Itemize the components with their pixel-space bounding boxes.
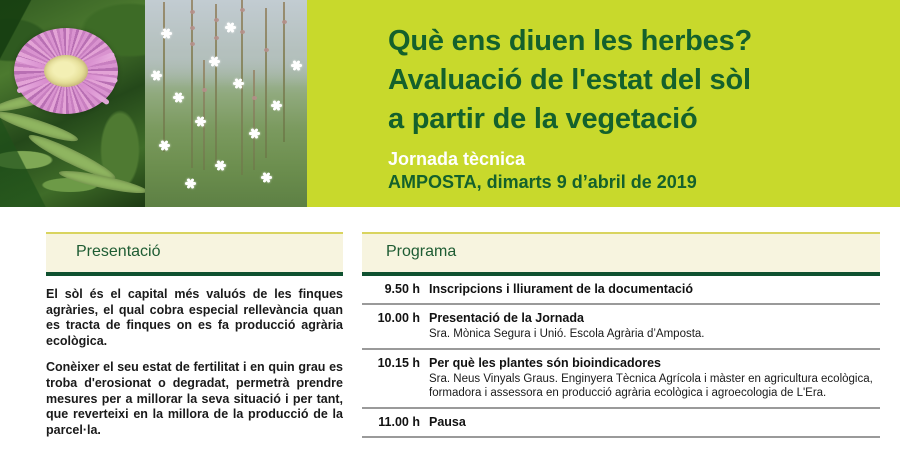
flower-bud xyxy=(190,26,195,30)
program-row: 10.15 h Per què les plantes són bioindic… xyxy=(362,350,880,409)
program-title: Per què les plantes són bioindicadores xyxy=(429,355,880,371)
stem xyxy=(203,60,205,170)
stem xyxy=(215,4,217,164)
event-subtitle: Jornada tècnica xyxy=(388,148,888,171)
presentation-column: Presentació El sòl és el capital més val… xyxy=(46,232,343,449)
white-flower xyxy=(291,60,302,71)
title-line-1: Què ens diuen les herbes? xyxy=(388,22,888,61)
title-block: Què ens diuen les herbes? Avaluació de l… xyxy=(388,22,888,194)
flower-bud xyxy=(202,88,207,92)
header-banner: Què ens diuen les herbes? Avaluació de l… xyxy=(0,0,900,207)
white-flower xyxy=(161,28,172,39)
programa-heading: Programa xyxy=(362,234,880,263)
white-flower xyxy=(233,78,244,89)
stem xyxy=(265,8,267,158)
flower-bud xyxy=(240,30,245,34)
flower-bud xyxy=(282,20,287,24)
program-row: 10.00 h Presentació de la Jornada Sra. M… xyxy=(362,305,880,350)
title-line-3: a partir de la vegetació xyxy=(388,100,888,139)
program-time: 11.00 h xyxy=(362,414,420,430)
flower-center xyxy=(44,55,88,87)
program-time: 10.00 h xyxy=(362,310,420,342)
program-time: 10.15 h xyxy=(362,355,420,401)
event-dateline: AMPOSTA, dimarts 9 d’abril de 2019 xyxy=(388,171,888,194)
white-flower xyxy=(151,70,162,81)
program-entry: Pausa xyxy=(420,414,880,430)
flower-bud xyxy=(240,8,245,12)
white-flower xyxy=(159,140,170,151)
program-title: Pausa xyxy=(429,414,880,430)
program-row-clipped xyxy=(362,438,880,444)
photo-centaurea-flower xyxy=(0,0,145,207)
title-line-2: Avaluació de l'estat del sòl xyxy=(388,61,888,100)
flower-bud xyxy=(214,18,219,22)
white-flower xyxy=(225,22,236,33)
flower-bud xyxy=(190,42,195,46)
flower-bud xyxy=(190,10,195,14)
program-entry: Inscripcions i lliurament de la document… xyxy=(420,281,880,297)
white-flower xyxy=(261,172,272,183)
white-flower xyxy=(195,116,206,127)
presentation-section-header: Presentació xyxy=(46,232,343,276)
white-flower xyxy=(215,160,226,171)
centaurea-blossom xyxy=(14,28,118,114)
presentation-heading: Presentació xyxy=(46,234,343,263)
program-entry: Per què les plantes són bioindicadores S… xyxy=(420,355,880,401)
white-flower xyxy=(185,178,196,189)
presentation-paragraph: El sòl és el capital més valuós de les f… xyxy=(46,287,343,349)
stem xyxy=(163,2,165,152)
programa-section-header: Programa xyxy=(362,232,880,276)
flower-bud xyxy=(252,96,257,100)
flower-bud xyxy=(214,36,219,40)
white-flower xyxy=(173,92,184,103)
white-flower xyxy=(209,56,220,67)
program-row: 9.50 h Inscripcions i lliurament de la d… xyxy=(362,276,880,305)
white-flower xyxy=(271,100,282,111)
presentation-paragraph: Conèixer el seu estat de fertilitat i en… xyxy=(46,360,343,438)
presentation-body: El sòl és el capital més valuós de les f… xyxy=(46,287,343,438)
photo-asphodel-meadow xyxy=(145,0,307,207)
program-time: 9.50 h xyxy=(362,281,420,297)
programa-column: Programa 9.50 h Inscripcions i lliuramen… xyxy=(362,232,880,444)
white-flower xyxy=(249,128,260,139)
program-title: Presentació de la Jornada xyxy=(429,310,880,326)
program-speaker: Sra. Mònica Segura i Unió. Escola Agràri… xyxy=(429,327,880,342)
program-speaker: Sra. Neus Vinyals Graus. Enginyera Tècni… xyxy=(429,372,880,401)
program-row: 11.00 h Pausa xyxy=(362,409,880,438)
flower-bud xyxy=(264,48,269,52)
program-title: Inscripcions i lliurament de la document… xyxy=(429,281,880,297)
stem xyxy=(253,70,255,170)
flyer-page: Què ens diuen les herbes? Avaluació de l… xyxy=(0,0,900,470)
program-entry: Presentació de la Jornada Sra. Mònica Se… xyxy=(420,310,880,342)
